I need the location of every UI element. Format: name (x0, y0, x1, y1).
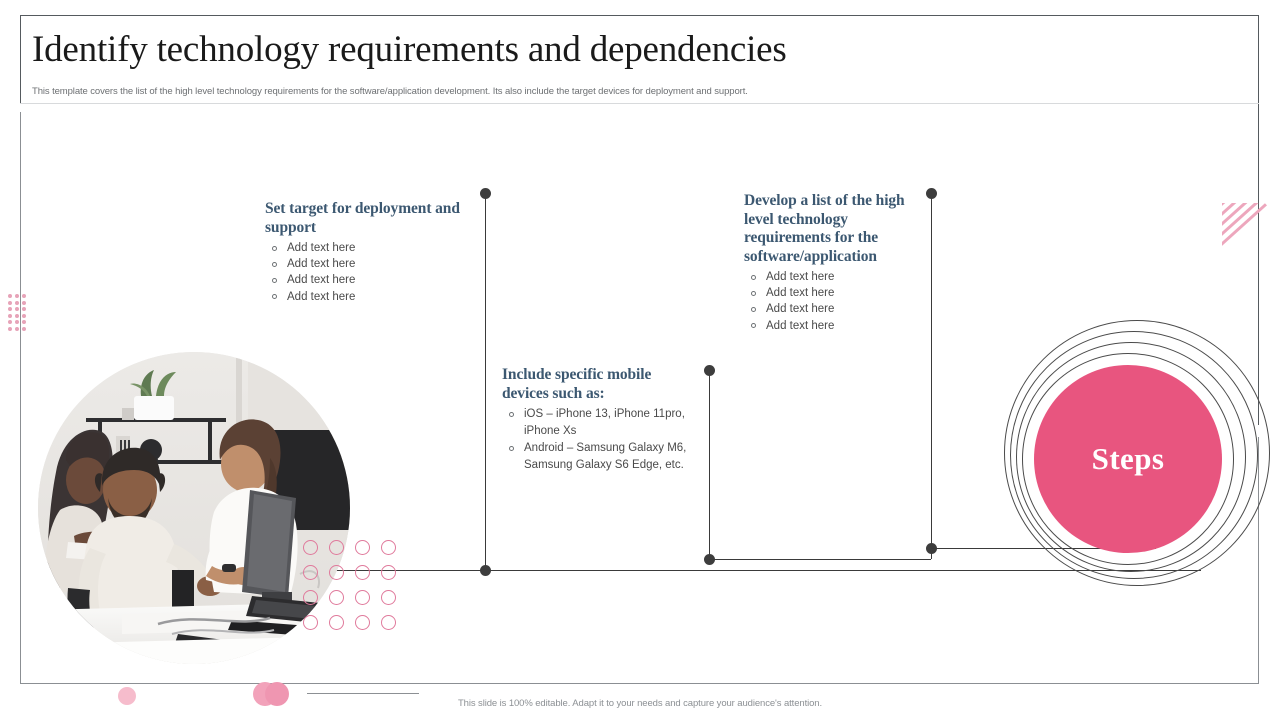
list-item: Add text here (265, 256, 477, 272)
list-item-label: Add text here (287, 291, 355, 303)
bullet-circle-icon (272, 294, 277, 299)
connector-dot-set-target-top (480, 188, 491, 199)
bullet-circle-icon (751, 323, 756, 328)
text-block-mobile-devices: Include specific mobile devices such as:… (502, 366, 700, 474)
slide-canvas: Identify technology requirements and dep… (0, 0, 1280, 720)
list-item: Add text here (265, 289, 477, 305)
list-item-label: Add text here (766, 287, 834, 299)
connector-line-develop-list (931, 193, 932, 559)
block-heading-develop-list: Develop a list of the high level technol… (744, 192, 926, 266)
list-item: Add text here (744, 269, 926, 285)
block-heading-mobile-devices: Include specific mobile devices such as: (502, 366, 700, 403)
block-list-set-target: Add text here Add text here Add text her… (265, 240, 477, 305)
list-item: Android – Samsung Galaxy M6, Samsung Gal… (502, 440, 700, 474)
page-subtitle: This template covers the list of the hig… (32, 85, 1032, 99)
bullet-circle-icon (272, 246, 277, 251)
bullet-circle-icon (751, 291, 756, 296)
connector-line-set-target (485, 193, 486, 570)
text-block-set-target: Set target for deployment and support Ad… (265, 200, 477, 305)
list-item-label: Add text here (287, 258, 355, 270)
connector-dot-develop-list-top (926, 188, 937, 199)
header-divider (20, 103, 1259, 104)
list-item: Add text here (744, 301, 926, 317)
page-title: Identify technology requirements and dep… (32, 28, 1032, 72)
block-list-mobile-devices: iOS – iPhone 13, iPhone 11pro, iPhone Xs… (502, 406, 700, 474)
steps-label: Steps (1092, 441, 1165, 477)
text-block-develop-list: Develop a list of the high level technol… (744, 192, 926, 334)
bullet-circle-icon (751, 307, 756, 312)
frame-left-border-upper (20, 15, 21, 103)
footer-note: This slide is 100% editable. Adapt it to… (0, 698, 1280, 709)
list-item-label: Add text here (287, 274, 355, 286)
connector-line-mobile-devices (709, 370, 710, 560)
list-item-label: Add text here (766, 303, 834, 315)
frame-bottom-border (20, 683, 1259, 684)
bullet-circle-icon (751, 275, 756, 280)
list-item-label: Add text here (287, 242, 355, 254)
decor-dot-grid-left (8, 294, 29, 333)
steps-badge: Steps (1020, 312, 1260, 580)
list-item-label: Add text here (766, 320, 834, 332)
list-item: iOS – iPhone 13, iPhone 11pro, iPhone Xs (502, 406, 700, 440)
connector-stub-mobile-devices (709, 559, 931, 560)
list-item: Add text here (265, 240, 477, 256)
list-item-label: Add text here (766, 271, 834, 283)
list-item: Add text here (744, 318, 926, 334)
list-item: Add text here (744, 285, 926, 301)
block-heading-set-target: Set target for deployment and support (265, 200, 477, 237)
footer-accent-rule (307, 693, 419, 694)
decor-circle-grid (303, 540, 407, 640)
frame-left-border-lower (20, 112, 21, 684)
bullet-circle-icon (272, 278, 277, 283)
connector-dot-mobile-devices-top (704, 365, 715, 376)
list-item-label: iOS – iPhone 13, iPhone 11pro, iPhone Xs (524, 408, 685, 437)
connector-dot-set-target-bottom (480, 565, 491, 576)
frame-top-border (20, 15, 1259, 16)
list-item: Add text here (265, 272, 477, 288)
steps-circle: Steps (1034, 365, 1222, 553)
list-item-label: Android – Samsung Galaxy M6, Samsung Gal… (524, 442, 686, 471)
bullet-circle-icon (509, 446, 514, 451)
bullet-circle-icon (272, 262, 277, 267)
decor-diagonal-stripes (1222, 203, 1268, 265)
block-list-develop-list: Add text here Add text here Add text her… (744, 269, 926, 334)
bullet-circle-icon (509, 412, 514, 417)
